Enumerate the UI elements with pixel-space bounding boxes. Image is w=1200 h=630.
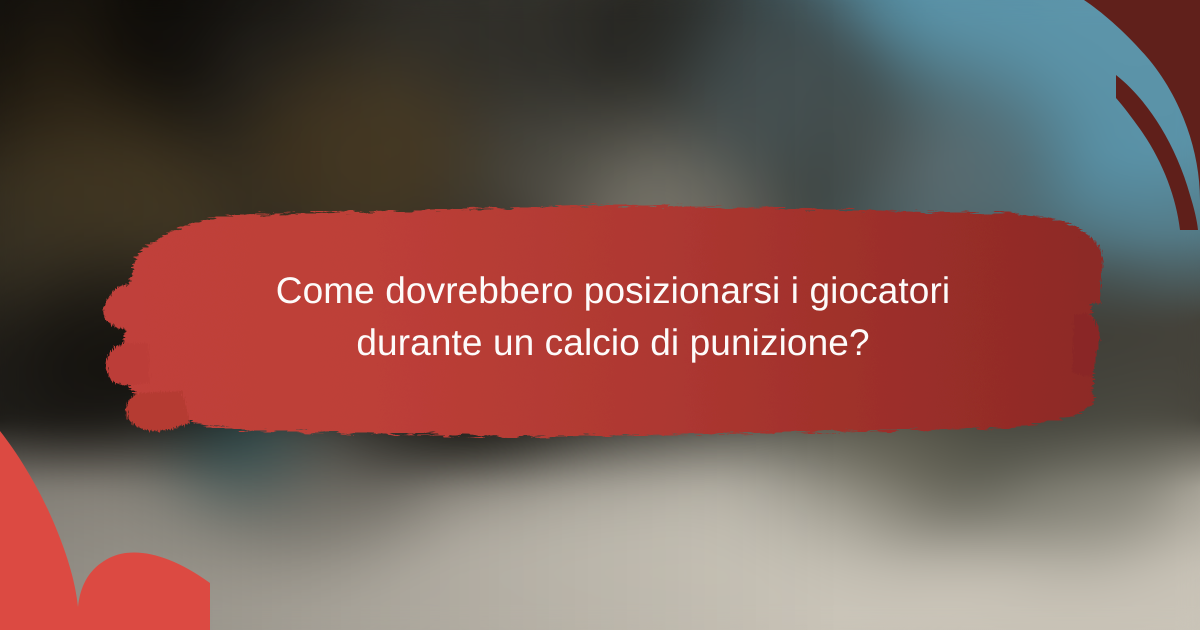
page-title: Come dovrebbero posizionarsi i giocatori… [158, 265, 1068, 369]
headline-banner: Come dovrebbero posizionarsi i giocatori… [98, 193, 1108, 441]
share-card: Come dovrebbero posizionarsi i giocatori… [0, 0, 1200, 630]
